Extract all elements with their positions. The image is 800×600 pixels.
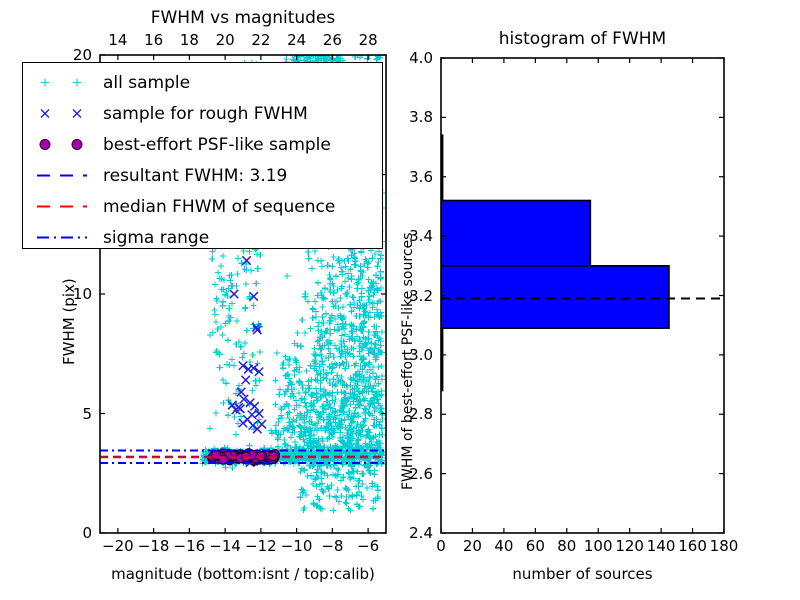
tick-label: 160 bbox=[678, 537, 707, 555]
legend-marker-dashdot-icon bbox=[31, 222, 103, 253]
tick-label: 80 bbox=[557, 537, 576, 555]
legend-item-label: sample for rough FWHM bbox=[103, 104, 308, 124]
tick-label: 20 bbox=[463, 537, 482, 555]
tick-label: 3.8 bbox=[409, 108, 433, 126]
right-panel-title: histogram of FWHM bbox=[441, 29, 724, 49]
tick-label: 140 bbox=[647, 537, 676, 555]
tick-label: 0 bbox=[82, 524, 92, 542]
tick-label: 5 bbox=[82, 405, 92, 423]
tick-label: 180 bbox=[710, 537, 739, 555]
legend-item[interactable]: all sample bbox=[31, 67, 382, 98]
tick-label: −8 bbox=[321, 537, 343, 555]
tick-label: 3.0 bbox=[409, 346, 433, 364]
figure-canvas: FWHM vs magnitudes magnitude (bottom:isn… bbox=[0, 0, 800, 600]
tick-label: 10 bbox=[73, 285, 92, 303]
tick-label: 3.2 bbox=[409, 287, 433, 305]
tick-label: 2.6 bbox=[409, 465, 433, 483]
right-panel-histogram bbox=[441, 58, 724, 533]
tick-label: 20 bbox=[216, 31, 235, 49]
legend-marker-dashed-icon bbox=[31, 191, 103, 222]
tick-label: 3.4 bbox=[409, 227, 433, 245]
legend-item-label: best-effort PSF-like sample bbox=[103, 135, 331, 155]
legend-marker-dot-icon bbox=[31, 129, 103, 160]
tick-label: 60 bbox=[526, 537, 545, 555]
tick-label: 3.6 bbox=[409, 168, 433, 186]
tick-label: 14 bbox=[108, 31, 127, 49]
legend-marker-cross-icon bbox=[31, 98, 103, 129]
legend-item[interactable]: resultant FWHM: 3.19 bbox=[31, 160, 382, 191]
tick-label: 16 bbox=[144, 31, 163, 49]
left-panel-title: FWHM vs magnitudes bbox=[113, 8, 373, 28]
tick-label: 26 bbox=[323, 31, 342, 49]
legend-item[interactable]: sigma range bbox=[31, 222, 382, 253]
tick-label: 40 bbox=[494, 537, 513, 555]
left-xaxis-label: magnitude (bottom:isnt / top:calib) bbox=[100, 565, 386, 583]
tick-label: 100 bbox=[584, 537, 613, 555]
tick-label: 120 bbox=[615, 537, 644, 555]
tick-label: 0 bbox=[436, 537, 446, 555]
tick-label: −20 bbox=[102, 537, 134, 555]
legend-item[interactable]: sample for rough FWHM bbox=[31, 98, 382, 129]
tick-label: 24 bbox=[287, 31, 306, 49]
legend-item[interactable]: best-effort PSF-like sample bbox=[31, 129, 382, 160]
tick-label: −14 bbox=[209, 537, 241, 555]
tick-label: −6 bbox=[357, 537, 379, 555]
legend-item-label: all sample bbox=[103, 73, 190, 93]
right-xaxis-label: number of sources bbox=[441, 565, 724, 583]
tick-label: 28 bbox=[359, 31, 378, 49]
tick-label: −16 bbox=[174, 537, 206, 555]
tick-label: 2.4 bbox=[409, 524, 433, 542]
tick-label: 22 bbox=[251, 31, 270, 49]
tick-label: −12 bbox=[245, 537, 277, 555]
tick-label: −18 bbox=[138, 537, 170, 555]
legend-item-label: resultant FWHM: 3.19 bbox=[103, 166, 287, 186]
tick-label: −10 bbox=[281, 537, 313, 555]
tick-label: 2.8 bbox=[409, 405, 433, 423]
legend-marker-dashed-icon bbox=[31, 160, 103, 191]
legend-item[interactable]: median FHWM of sequence bbox=[31, 191, 382, 222]
legend-item-label: median FHWM of sequence bbox=[103, 197, 335, 217]
tick-label: 4.0 bbox=[409, 49, 433, 67]
legend: all samplesample for rough FWHMbest-effo… bbox=[22, 62, 383, 249]
tick-label: 18 bbox=[180, 31, 199, 49]
legend-marker-plus-icon bbox=[31, 67, 103, 98]
legend-item-label: sigma range bbox=[103, 228, 209, 248]
